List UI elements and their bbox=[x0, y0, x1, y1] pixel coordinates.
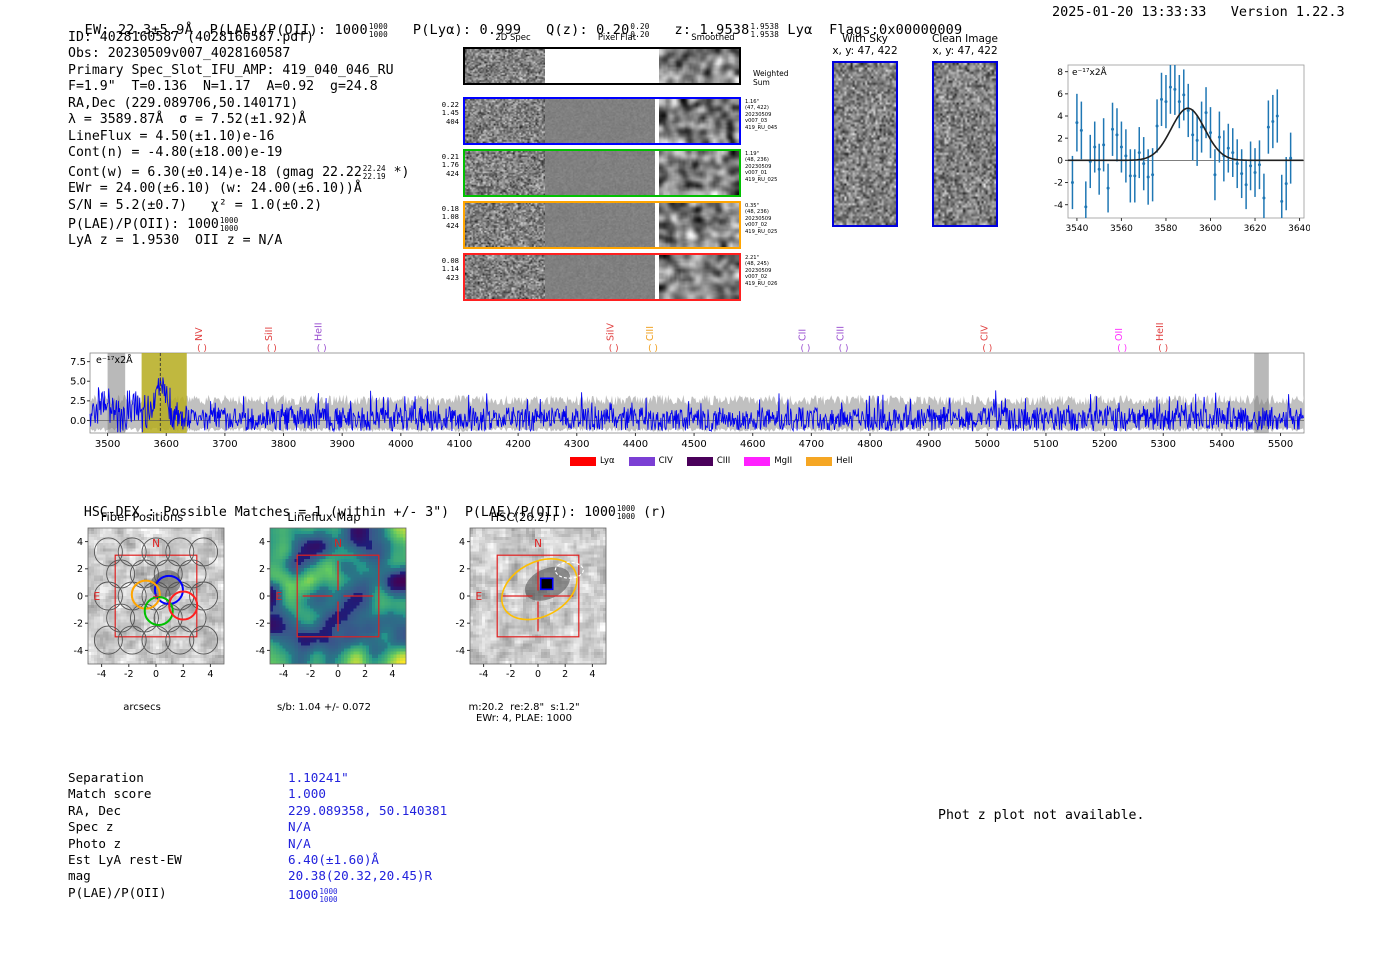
emission-line-bracket: ( ) bbox=[267, 344, 277, 354]
xtick-label: 3500 bbox=[95, 439, 120, 450]
cutout-ytick: 2 bbox=[459, 564, 465, 575]
cutout-title: Lineflux Map bbox=[242, 510, 406, 524]
xtick-label: 5200 bbox=[1092, 439, 1117, 450]
emission-line-bracket: ( ) bbox=[648, 344, 658, 354]
match-table-key: P(LAE)/P(OII) bbox=[68, 885, 167, 901]
xtick-label: 3540 bbox=[1065, 224, 1088, 234]
emission-line-label: HeII bbox=[1155, 322, 1166, 341]
xtick-label: 4300 bbox=[564, 439, 589, 450]
spec2d-row-n2: 424 bbox=[425, 222, 459, 230]
cutout-xtick: 0 bbox=[153, 669, 159, 680]
emission-line-bracket: ( ) bbox=[982, 344, 992, 354]
smoothed-image bbox=[659, 255, 739, 299]
ytick-label: 2 bbox=[1057, 134, 1063, 144]
pixel-flat-image bbox=[545, 49, 655, 83]
full-spectrum-plot: 3500360037003800390040004100420043004400… bbox=[60, 305, 1310, 459]
cutout-svg: NE-4-4-2-2002244 bbox=[242, 524, 412, 702]
xtick-label: 3600 bbox=[1199, 224, 1222, 234]
cutout-captions: arcsecs bbox=[60, 702, 224, 713]
cutout-ytick: 4 bbox=[459, 537, 465, 548]
units-label: e⁻¹⁷x2Å bbox=[1072, 66, 1108, 78]
cutout-captions: m:20.2 re:2.8" s:1.2"EWr: 4, PLAE: 1000 bbox=[442, 702, 606, 724]
info-redshifts: LyA z = 1.9530 OII z = N/A bbox=[68, 233, 409, 249]
compass-north: N bbox=[334, 538, 342, 550]
match-table-value: N/A bbox=[288, 836, 311, 852]
compass-north: N bbox=[534, 538, 542, 550]
spec2d-strip bbox=[463, 47, 741, 85]
match-table-key: Photo z bbox=[68, 836, 121, 852]
cutout-ytick: 0 bbox=[259, 591, 265, 602]
line-fit-plot: 354035603580360036203640-4-202468e⁻¹⁷x2Å bbox=[1040, 55, 1310, 244]
cutout-xtick: 4 bbox=[207, 669, 213, 680]
cutout-captions: s/b: 1.04 +/- 0.072 bbox=[242, 702, 406, 713]
cutout-ytick: -4 bbox=[74, 646, 83, 657]
spec2d-meta-line: 419_RU_025 bbox=[745, 177, 805, 183]
xtick-label: 4500 bbox=[681, 439, 706, 450]
compass-east: E bbox=[276, 591, 283, 603]
ytick-label: -4 bbox=[1054, 201, 1063, 211]
compass-east: E bbox=[94, 591, 101, 603]
col-title-2dspec: 2D Spec bbox=[463, 33, 563, 43]
cutout-ytick: -4 bbox=[256, 646, 265, 657]
match-table-value: N/A bbox=[288, 819, 311, 835]
pixel-flat-image bbox=[545, 151, 655, 195]
pixel-flat-image bbox=[545, 255, 655, 299]
legend-item: HeII bbox=[806, 456, 853, 466]
info-obs: Obs: 20230509v007_4028160587 bbox=[68, 46, 409, 62]
spec2d-row-weights: 0.181.08424 bbox=[425, 205, 459, 230]
info-sn-chi2: S/N = 5.2(±0.7) χ² = 1.0(±0.2) bbox=[68, 198, 409, 214]
emission-line-label: HeII bbox=[314, 322, 325, 341]
spec2d-image bbox=[465, 49, 545, 83]
xtick-label: 3700 bbox=[212, 439, 237, 450]
cutout-caption: s/b: 1.04 +/- 0.072 bbox=[242, 702, 406, 713]
xtick-label: 5100 bbox=[1033, 439, 1058, 450]
timestamp-version: 2025-01-20 13:33:33 Version 1.22.3 bbox=[1052, 4, 1345, 20]
info-plae-range: 10001000 bbox=[220, 217, 238, 233]
sky-image-panel: With Skyx, y: 47, 422 bbox=[820, 33, 910, 227]
match-table-key: Match score bbox=[68, 786, 151, 802]
sky-image-title: With Sky bbox=[820, 33, 910, 45]
cutout-xtick: 4 bbox=[389, 669, 395, 680]
match-table-key: Separation bbox=[68, 770, 144, 786]
cutout-xtick: -2 bbox=[306, 669, 315, 680]
xtick-label: 3560 bbox=[1110, 224, 1133, 234]
spec2d-row-n2: 404 bbox=[425, 118, 459, 126]
spec2d-meta-line: 419_RU_026 bbox=[745, 281, 805, 287]
emission-line-label: NV bbox=[194, 327, 205, 341]
pixel-flat-image bbox=[545, 203, 655, 247]
header-line-id: Lyα bbox=[787, 22, 812, 38]
xtick-label: 4100 bbox=[447, 439, 472, 450]
cutout-ytick: 4 bbox=[259, 537, 265, 548]
legend-label: Lyα bbox=[600, 456, 615, 466]
info-cont-w: Cont(w) = 6.30(±0.14)e-18 (gmag 22.2222.… bbox=[68, 162, 409, 181]
legend-item: CIV bbox=[629, 456, 673, 466]
col-title-smoothed: Smoothed bbox=[663, 33, 763, 43]
emission-line-bracket: ( ) bbox=[197, 344, 207, 354]
ytick-label: 0 bbox=[1057, 157, 1063, 167]
spectrum-svg: 3500360037003800390040004100420043004400… bbox=[60, 305, 1310, 455]
emission-line-bracket: ( ) bbox=[1158, 344, 1168, 354]
spec2d-strip bbox=[463, 149, 741, 197]
info-radec: RA,Dec (229.089706,50.140171) bbox=[68, 96, 409, 112]
spec2d-meta-line: 419_RU_025 bbox=[745, 229, 805, 235]
xtick-label: 3640 bbox=[1288, 224, 1310, 234]
cutout-ytick: -2 bbox=[256, 619, 265, 630]
cutout-panel: Lineflux MapNE-4-4-2-2002244s/b: 1.04 +/… bbox=[242, 510, 442, 713]
sky-image-cutout bbox=[932, 61, 998, 227]
match-table-key: Est LyA rest-EW bbox=[68, 852, 182, 868]
xtick-label: 3600 bbox=[154, 439, 179, 450]
spec2d-row-n2: 424 bbox=[425, 170, 459, 178]
emission-line-bracket: ( ) bbox=[839, 344, 849, 354]
spec2d-image bbox=[465, 99, 545, 143]
cutout-svg: NE-4-4-2-2002244 bbox=[442, 524, 612, 702]
cutout-ytick: 0 bbox=[77, 591, 83, 602]
cutout-xtick: -4 bbox=[279, 669, 288, 680]
emission-line-bracket: ( ) bbox=[609, 344, 619, 354]
emission-line-label: CIV bbox=[979, 325, 990, 341]
info-cont-n: Cont(n) = -4.80(±18.00)e-19 bbox=[68, 145, 409, 161]
smoothed-image bbox=[659, 203, 739, 247]
xtick-label: 3900 bbox=[329, 439, 354, 450]
cutout-panel: HSC(26.2) rNE-4-4-2-2002244m:20.2 re:2.8… bbox=[442, 510, 642, 724]
spec2d-strip bbox=[463, 201, 741, 249]
legend-swatch bbox=[629, 457, 655, 466]
compass-north: N bbox=[152, 538, 160, 550]
ytick-label: 4 bbox=[1057, 112, 1063, 122]
cutout-xtick: -4 bbox=[97, 669, 106, 680]
spec2d-strip bbox=[463, 97, 741, 145]
cutout-ytick: 4 bbox=[77, 537, 83, 548]
info-id: ID: 4028160587 (4028160587.pdf) bbox=[68, 30, 409, 46]
emission-line-bracket: ( ) bbox=[1117, 344, 1127, 354]
info-seeing: F=1.9" T=0.136 N=1.17 A=0.92 g=24.8 bbox=[68, 79, 409, 95]
cutout-title: HSC(26.2) r bbox=[442, 510, 606, 524]
match-table-value: 100010001000 bbox=[288, 885, 338, 903]
photz-plot-message: Phot z plot not available. bbox=[938, 808, 1144, 823]
sky-image-coords: x, y: 47, 422 bbox=[920, 45, 1010, 57]
spec2d-row-meta: 2.21"(48, 245)20230509v007_02419_RU_026 bbox=[745, 255, 805, 287]
xtick-label: 3580 bbox=[1155, 224, 1178, 234]
info-gmag-range: 22.2422.19 bbox=[363, 165, 386, 181]
cutout-xlabel: arcsecs bbox=[60, 702, 224, 713]
detection-info-block: ID: 4028160587 (4028160587.pdf) Obs: 202… bbox=[68, 30, 409, 250]
xtick-label: 4200 bbox=[505, 439, 530, 450]
info-lambda-sigma: λ = 3589.87Å σ = 7.52(±1.92)Å bbox=[68, 112, 409, 128]
xtick-label: 3800 bbox=[271, 439, 296, 450]
cutout-title: Fiber Positions bbox=[60, 510, 224, 524]
spectrum-legend: LyαCIVCIIIMgIIHeII bbox=[570, 456, 853, 466]
legend-swatch bbox=[806, 457, 832, 466]
match-table-value: 229.089358, 50.140381 bbox=[288, 803, 447, 819]
cutout-svg: +NE-4-4-2-2002244 bbox=[60, 524, 230, 702]
spec2d-image bbox=[465, 151, 545, 195]
emission-line-label: SiIV bbox=[606, 323, 617, 341]
units-label: e⁻¹⁷x2Å bbox=[96, 354, 133, 366]
weighted-sum-label: Weighted Sum bbox=[753, 69, 789, 87]
smoothed-image bbox=[659, 151, 739, 195]
xtick-label: 4800 bbox=[857, 439, 882, 450]
ytick-label: 5.0 bbox=[70, 377, 86, 388]
xtick-label: 3620 bbox=[1244, 224, 1267, 234]
spec2d-strip bbox=[463, 253, 741, 301]
legend-swatch bbox=[687, 457, 713, 466]
ytick-label: 7.5 bbox=[70, 357, 86, 368]
match-table-value: 1.000 bbox=[288, 786, 326, 802]
xtick-label: 5500 bbox=[1268, 439, 1293, 450]
xtick-label: 5300 bbox=[1151, 439, 1176, 450]
cutout-xtick: -2 bbox=[124, 669, 133, 680]
xtick-label: 5000 bbox=[975, 439, 1000, 450]
match-table-value: 1.10241" bbox=[288, 770, 349, 786]
xtick-label: 4400 bbox=[623, 439, 648, 450]
detection-box bbox=[541, 578, 553, 589]
spec2d-row-weights: 0.221.45404 bbox=[425, 101, 459, 126]
match-plae-range: 10001000 bbox=[319, 888, 337, 904]
cutout-ytick: -2 bbox=[74, 619, 83, 630]
match-table-value: 6.40(±1.60)Å bbox=[288, 852, 379, 868]
spec2d-row-weights: 0.081.14423 bbox=[425, 257, 459, 282]
xtick-label: 4900 bbox=[916, 439, 941, 450]
cutout-ytick: -2 bbox=[456, 619, 465, 630]
spec2d-meta-line: 419_RU_045 bbox=[745, 125, 805, 131]
emission-line-label: SiII bbox=[264, 327, 275, 341]
ytick-label: 6 bbox=[1057, 90, 1063, 100]
xtick-label: 4000 bbox=[388, 439, 413, 450]
legend-label: HeII bbox=[836, 456, 853, 466]
sky-image-cutout bbox=[832, 61, 898, 227]
spec2d-image bbox=[465, 255, 545, 299]
ytick-label: -2 bbox=[1054, 179, 1063, 189]
cutout-caption: m:20.2 re:2.8" s:1.2" bbox=[442, 702, 606, 713]
xtick-label: 5400 bbox=[1209, 439, 1234, 450]
ytick-label: 2.5 bbox=[70, 396, 86, 407]
smoothed-image bbox=[659, 99, 739, 143]
ytick-label: 0.0 bbox=[70, 416, 86, 427]
emission-line-bracket: ( ) bbox=[317, 344, 327, 354]
ytick-label: 8 bbox=[1057, 68, 1063, 78]
sky-image-panel: Clean Imagex, y: 47, 422 bbox=[920, 33, 1010, 227]
match-table-key: Spec z bbox=[68, 819, 114, 835]
legend-item: CIII bbox=[687, 456, 730, 466]
info-primary-spec: Primary Spec_Slot_IFU_AMP: 419_040_046_R… bbox=[68, 63, 409, 79]
match-table-key: mag bbox=[68, 868, 91, 884]
cutout-caption-secondary: EWr: 4, PLAE: 1000 bbox=[442, 713, 606, 724]
compass-east: E bbox=[476, 591, 483, 603]
legend-swatch bbox=[570, 457, 596, 466]
match-table-key: RA, Dec bbox=[68, 803, 121, 819]
emission-line-label: CII bbox=[797, 329, 808, 341]
cutout-xtick: -2 bbox=[506, 669, 515, 680]
legend-label: MgII bbox=[774, 456, 792, 466]
emission-line-bracket: ( ) bbox=[801, 344, 811, 354]
line-fit-svg: 354035603580360036203640-4-202468e⁻¹⁷x2Å bbox=[1040, 55, 1310, 240]
emission-line-label: OII bbox=[1114, 328, 1125, 341]
cutout-ytick: 2 bbox=[259, 564, 265, 575]
spec2d-row-meta: 1.16"(47, 422)20230509v007_03419_RU_045 bbox=[745, 99, 805, 131]
xtick-label: 4600 bbox=[740, 439, 765, 450]
cutout-xtick: 2 bbox=[180, 669, 186, 680]
legend-item: Lyα bbox=[570, 456, 615, 466]
emission-line-label: CIII bbox=[645, 326, 656, 341]
info-ewr: EWr = 24.00(±6.10) (w: 24.00(±6.10))Å bbox=[68, 181, 409, 197]
emission-line-label: CIII bbox=[836, 326, 847, 341]
cutout-ytick: 0 bbox=[459, 591, 465, 602]
legend-label: CIV bbox=[659, 456, 673, 466]
legend-item: MgII bbox=[744, 456, 792, 466]
spec2d-row-weights: 0.211.76424 bbox=[425, 153, 459, 178]
spec2d-image bbox=[465, 203, 545, 247]
info-plae: P(LAE)/P(OII): 100010001000 bbox=[68, 214, 409, 233]
sky-image-title: Clean Image bbox=[920, 33, 1010, 45]
xtick-label: 4700 bbox=[799, 439, 824, 450]
cutout-xtick: 2 bbox=[362, 669, 368, 680]
target-marker: + bbox=[153, 590, 160, 603]
spec2d-row-meta: 0.35"(48, 236)20230509v007_02419_RU_025 bbox=[745, 203, 805, 235]
pixel-flat-image bbox=[545, 99, 655, 143]
cutout-xtick: 4 bbox=[589, 669, 595, 680]
cutout-xtick: 0 bbox=[535, 669, 541, 680]
sky-image-coords: x, y: 47, 422 bbox=[820, 45, 910, 57]
cutout-ytick: 2 bbox=[77, 564, 83, 575]
cutout-xtick: -4 bbox=[479, 669, 488, 680]
cutout-xtick: 2 bbox=[562, 669, 568, 680]
cutout-ytick: -4 bbox=[456, 646, 465, 657]
info-lineflux: LineFlux = 4.50(±1.10)e-16 bbox=[68, 129, 409, 145]
legend-swatch bbox=[744, 457, 770, 466]
match-table-value: 20.38(20.32,20.45)R bbox=[288, 868, 432, 884]
col-title-pixelflat: Pixel Flat bbox=[567, 33, 667, 43]
legend-label: CIII bbox=[717, 456, 730, 466]
spec2d-row-meta: 1.19"(48, 236)20230509v007_01419_RU_025 bbox=[745, 151, 805, 183]
spec2d-row-n2: 423 bbox=[425, 274, 459, 282]
cutout-panel: Fiber Positions+NE-4-4-2-2002244arcsecs bbox=[60, 510, 260, 713]
smoothed-image bbox=[659, 49, 739, 83]
cutout-xtick: 0 bbox=[335, 669, 341, 680]
